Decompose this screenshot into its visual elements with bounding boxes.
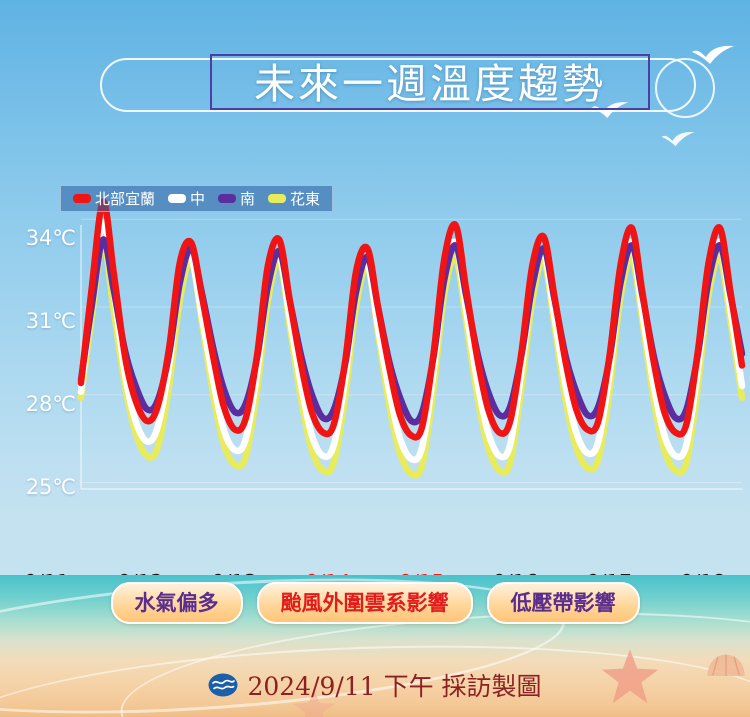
temperature-trend-chart: 北部宜蘭 中 南 花東 34℃ 31℃ 28℃ 25℃ [0,170,750,570]
condition-pill-moisture[interactable]: 水氣偏多 [111,582,243,624]
chart-series [81,202,742,476]
page-title: 未來一週溫度趨勢 [210,56,650,112]
legend-item-south: 南 [218,188,255,209]
legend-swatch-hualien-taitung [268,194,286,203]
legend-item-hualien-taitung: 花東 [268,188,320,209]
legend-swatch-central [168,194,186,203]
footer-credit: 2024/9/11 下午 採訪製圖 [0,662,750,708]
condition-pill-low-pressure[interactable]: 低壓帶影響 [487,582,640,624]
legend-label-north-yilan: 北部宜蘭 [95,188,155,209]
footer-text: 2024/9/11 下午 採訪製圖 [247,667,541,703]
chart-legend: 北部宜蘭 中 南 花東 [60,185,333,212]
legend-swatch-south [218,194,236,203]
legend-swatch-north-yilan [73,194,91,203]
condition-pill-row: 水氣偏多 颱風外圍雲系影響 低壓帶影響 [0,583,750,623]
legend-label-central: 中 [190,188,205,209]
legend-item-north-yilan: 北部宜蘭 [73,188,155,209]
legend-label-hualien-taitung: 花東 [290,188,320,209]
condition-pill-typhoon[interactable]: 颱風外圍雲系影響 [257,582,473,624]
weather-forecast-graphic: 未來一週溫度趨勢 北部宜蘭 中 南 花東 34℃ 31℃ 28 [0,0,750,717]
seagull-icon [660,130,696,150]
legend-label-south: 南 [240,188,255,209]
title-block: 未來一週溫度趨勢 [100,58,700,116]
chart-plot-area [0,170,750,570]
legend-item-central: 中 [168,188,205,209]
cwa-logo-icon [208,673,238,697]
